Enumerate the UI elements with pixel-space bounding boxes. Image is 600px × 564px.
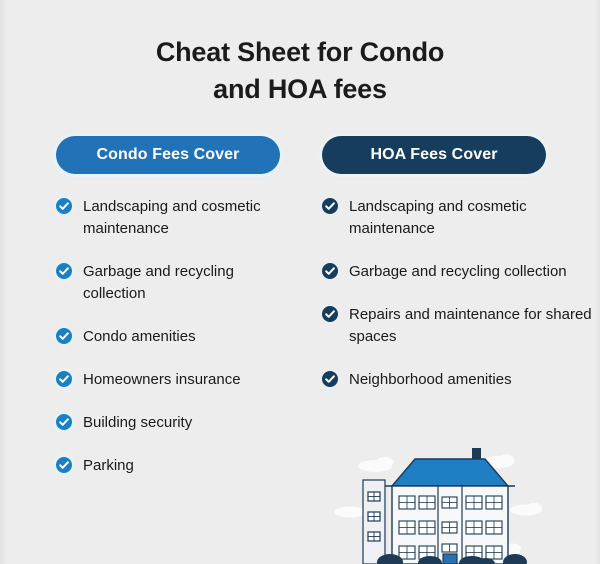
check-circle-icon (56, 198, 72, 214)
check-circle-icon (56, 457, 72, 473)
list-item: Homeowners insurance (56, 369, 300, 391)
page-title: Cheat Sheet for Condo and HOA fees (0, 34, 600, 108)
hoa-fees-cover-badge: HOA Fees Cover (322, 136, 546, 174)
list-item: Landscaping and cosmetic maintenance (322, 196, 600, 240)
list-item-label: Garbage and recycling collection (83, 261, 300, 305)
list-item-label: Condo amenities (83, 326, 196, 348)
list-item: Building security (56, 412, 300, 434)
check-circle-icon (56, 328, 72, 344)
list-item: Garbage and recycling collection (56, 261, 300, 305)
list-item-label: Landscaping and cosmetic maintenance (349, 196, 600, 240)
condo-fees-column: Condo Fees Cover Landscaping and cosmeti… (0, 136, 300, 498)
condo-fees-list: Landscaping and cosmetic maintenance Gar… (56, 196, 300, 477)
infographic-page: Cheat Sheet for Condo and HOA fees Condo… (0, 0, 600, 564)
list-item-label: Building security (83, 412, 192, 434)
check-circle-icon (322, 198, 338, 214)
check-circle-icon (322, 263, 338, 279)
page-title-line-2: and HOA fees (0, 71, 600, 108)
list-item-label: Parking (83, 455, 134, 477)
check-circle-icon (322, 371, 338, 387)
check-circle-icon (322, 306, 338, 322)
list-item: Garbage and recycling collection (322, 261, 600, 283)
hoa-fees-list: Landscaping and cosmetic maintenance Gar… (322, 196, 600, 391)
list-item-label: Neighborhood amenities (349, 369, 512, 391)
list-item: Condo amenities (56, 326, 300, 348)
list-item-label: Repairs and maintenance for shared space… (349, 304, 600, 348)
list-item-label: Garbage and recycling collection (349, 261, 567, 283)
check-circle-icon (56, 263, 72, 279)
condo-fees-cover-badge: Condo Fees Cover (56, 136, 280, 174)
list-item: Repairs and maintenance for shared space… (322, 304, 600, 348)
list-item-label: Homeowners insurance (83, 369, 241, 391)
building-side-wing (363, 480, 385, 564)
apartment-building-svg (330, 440, 600, 564)
apartment-building-illustration (330, 440, 600, 564)
list-item: Neighborhood amenities (322, 369, 600, 391)
list-item: Landscaping and cosmetic maintenance (56, 196, 300, 240)
page-title-line-1: Cheat Sheet for Condo (156, 37, 444, 67)
list-item-label: Landscaping and cosmetic maintenance (83, 196, 300, 240)
entrance-door (443, 554, 457, 564)
check-circle-icon (56, 371, 72, 387)
check-circle-icon (56, 414, 72, 430)
list-item: Parking (56, 455, 300, 477)
